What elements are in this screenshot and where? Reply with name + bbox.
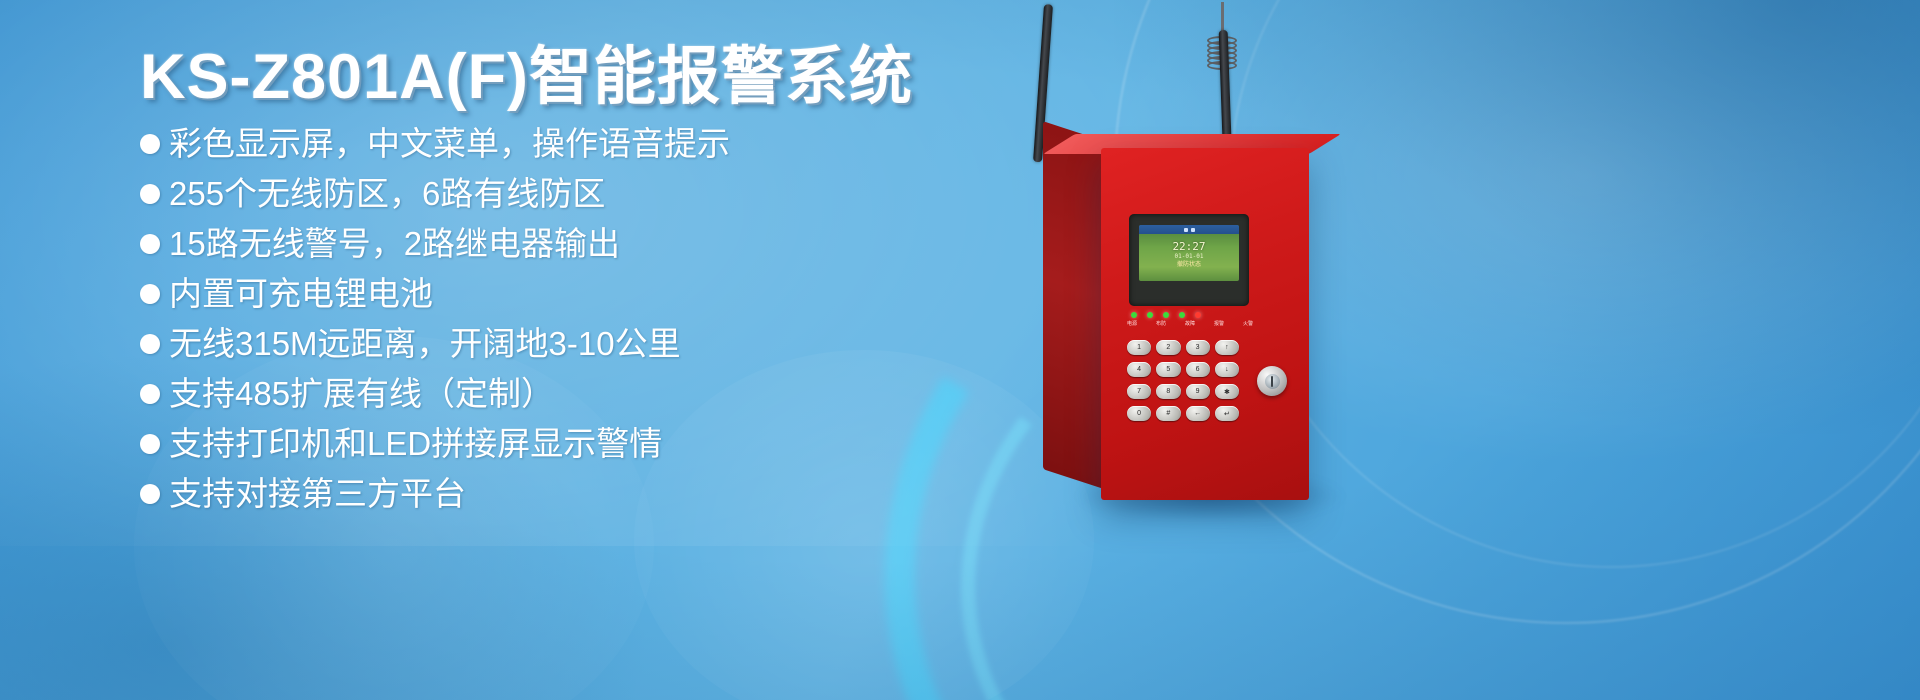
feature-label: 内置可充电锂电池 bbox=[169, 277, 433, 310]
feature-list: 彩色显示屏，中文菜单，操作语音提示 255个无线防区，6路有线防区 15路无线警… bbox=[140, 127, 930, 510]
feature-label: 支持485扩展有线（定制） bbox=[169, 377, 554, 410]
battery-icon bbox=[1191, 228, 1195, 232]
led-label: 布防 bbox=[1156, 320, 1166, 327]
keypad-key[interactable]: ↵ bbox=[1215, 406, 1239, 421]
feature-label: 无线315M远距离，开阔地3-10公里 bbox=[169, 327, 681, 360]
lock-keyhole bbox=[1271, 376, 1273, 387]
keypad-key[interactable]: 7 bbox=[1127, 384, 1151, 399]
keypad-key[interactable]: ↑ bbox=[1215, 340, 1239, 355]
signal-icon bbox=[1184, 228, 1188, 232]
led-power-indicator bbox=[1131, 312, 1137, 318]
feature-label: 支持打印机和LED拼接屏显示警情 bbox=[169, 427, 662, 460]
keypad-key[interactable]: 3 bbox=[1186, 340, 1210, 355]
lcd-screen: 22:27 01-01-01 撤防状态 bbox=[1139, 225, 1239, 281]
feature-item: 内置可充电锂电池 bbox=[140, 277, 930, 310]
keypad-key[interactable]: ← bbox=[1186, 406, 1210, 421]
keypad-key[interactable]: 8 bbox=[1156, 384, 1180, 399]
key-lock-icon[interactable] bbox=[1257, 366, 1287, 396]
bullet-dot-icon bbox=[140, 384, 160, 404]
lock-core bbox=[1265, 374, 1280, 389]
bullet-dot-icon bbox=[140, 434, 160, 454]
lcd-bezel: 22:27 01-01-01 撤防状态 bbox=[1129, 214, 1249, 306]
led-label: 故障 bbox=[1185, 320, 1195, 327]
led-fire-indicator bbox=[1195, 312, 1201, 318]
keypad-key[interactable]: ✱ bbox=[1215, 384, 1239, 399]
feature-item: 彩色显示屏，中文菜单，操作语音提示 bbox=[140, 127, 930, 160]
lcd-status-bar bbox=[1139, 225, 1239, 234]
bullet-dot-icon bbox=[140, 284, 160, 304]
feature-item: 支持对接第三方平台 bbox=[140, 477, 930, 510]
led-fault-indicator bbox=[1163, 312, 1169, 318]
keypad-key[interactable]: 6 bbox=[1186, 362, 1210, 377]
feature-label: 支持对接第三方平台 bbox=[169, 477, 466, 510]
keypad-key[interactable]: ↓ bbox=[1215, 362, 1239, 377]
led-label-row: 电源 布防 故障 报警 火警 bbox=[1127, 320, 1253, 327]
keypad-key[interactable]: 9 bbox=[1186, 384, 1210, 399]
keypad-key[interactable]: 2 bbox=[1156, 340, 1180, 355]
lcd-date-text: 01-01-01 bbox=[1139, 253, 1239, 261]
feature-item: 255个无线防区，6路有线防区 bbox=[140, 177, 930, 210]
bullet-dot-icon bbox=[140, 134, 160, 154]
led-label: 电源 bbox=[1127, 320, 1137, 327]
bullet-dot-icon bbox=[140, 484, 160, 504]
feature-label: 彩色显示屏，中文菜单，操作语音提示 bbox=[169, 127, 730, 160]
marketing-copy-block: KS-Z801A(F)智能报警系统 彩色显示屏，中文菜单，操作语音提示 255个… bbox=[140, 46, 930, 527]
led-arm-indicator bbox=[1147, 312, 1153, 318]
keypad-key[interactable]: 0 bbox=[1127, 406, 1151, 421]
led-alarm-indicator bbox=[1179, 312, 1185, 318]
keypad-key[interactable]: 4 bbox=[1127, 362, 1151, 377]
product-banner: KS-Z801A(F)智能报警系统 彩色显示屏，中文菜单，操作语音提示 255个… bbox=[0, 0, 1920, 700]
feature-item: 支持485扩展有线（定制） bbox=[140, 377, 930, 410]
led-label: 火警 bbox=[1243, 320, 1253, 327]
bullet-dot-icon bbox=[140, 184, 160, 204]
lcd-mode-text: 撤防状态 bbox=[1139, 261, 1239, 269]
feature-item: 15路无线警号，2路继电器输出 bbox=[140, 227, 930, 260]
alarm-panel-product-image: 22:27 01-01-01 撤防状态 电源 布防 故障 报警 火警 1 2 3… bbox=[955, 0, 1515, 700]
keypad[interactable]: 1 2 3 ↑ 4 5 6 ↓ 7 8 9 ✱ 0 # ← ↵ bbox=[1127, 340, 1239, 424]
feature-label: 255个无线防区，6路有线防区 bbox=[169, 177, 605, 210]
keypad-key[interactable]: 1 bbox=[1127, 340, 1151, 355]
product-title: KS-Z801A(F)智能报警系统 bbox=[140, 46, 930, 109]
feature-item: 支持打印机和LED拼接屏显示警情 bbox=[140, 427, 930, 460]
feature-item: 无线315M远距离，开阔地3-10公里 bbox=[140, 327, 930, 360]
enclosure-side-panel bbox=[1043, 121, 1107, 490]
keypad-key[interactable]: 5 bbox=[1156, 362, 1180, 377]
led-indicator-row bbox=[1131, 312, 1249, 318]
bullet-dot-icon bbox=[140, 234, 160, 254]
keypad-key[interactable]: # bbox=[1156, 406, 1180, 421]
led-label: 报警 bbox=[1214, 320, 1224, 327]
lcd-time-text: 22:27 bbox=[1139, 240, 1239, 253]
feature-label: 15路无线警号，2路继电器输出 bbox=[169, 227, 620, 260]
bullet-dot-icon bbox=[140, 334, 160, 354]
